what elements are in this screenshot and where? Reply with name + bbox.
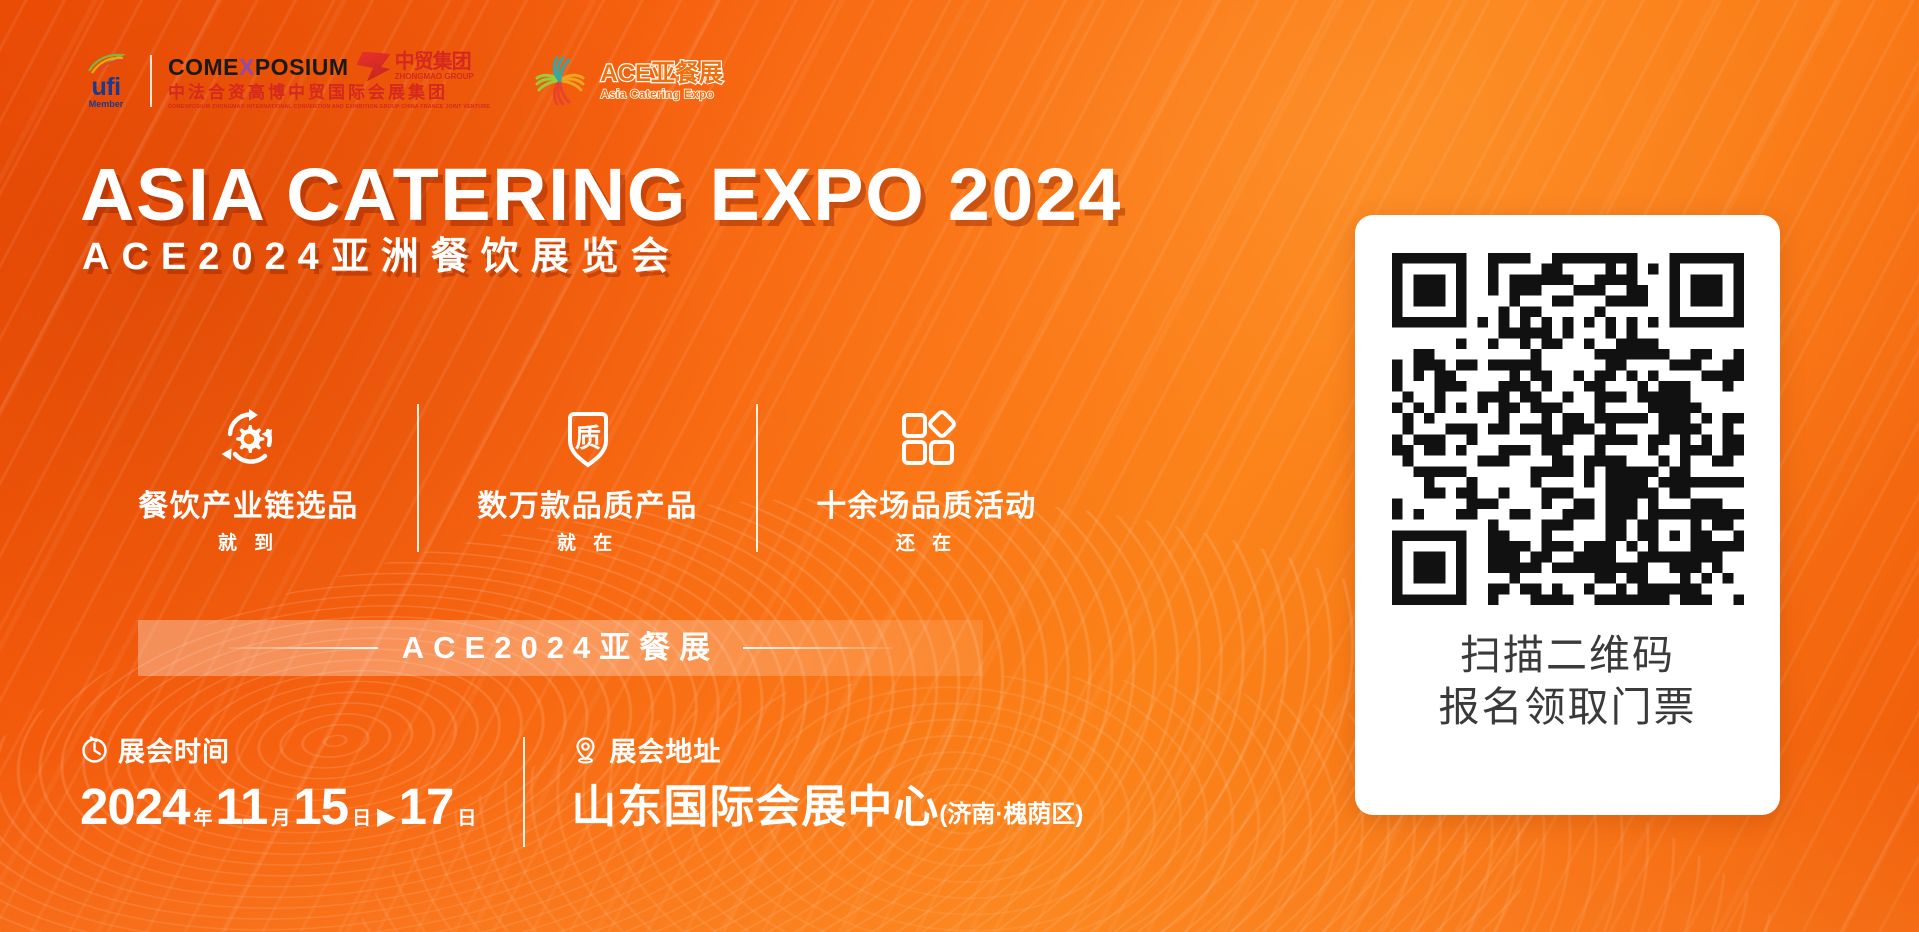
info-divider bbox=[523, 737, 525, 847]
qr-caption-line1: 扫描二维码 bbox=[1439, 629, 1697, 681]
clock-icon bbox=[80, 735, 109, 769]
ace-chinese-name: ACE亚餐展 bbox=[600, 61, 723, 87]
feature-subtitle: 还 在 bbox=[896, 532, 957, 556]
ufi-wordmark: ufi bbox=[91, 75, 120, 99]
feature-list: 餐饮产业链选品 就 到 质 数万款品质产品 就 在 bbox=[80, 400, 1095, 556]
joint-venture-english: COMEXPOSIUM ZHONGMAO INTERNATIONAL CONVE… bbox=[168, 103, 490, 111]
gear-cycle-icon bbox=[213, 400, 285, 472]
quality-shield-icon: 质 bbox=[552, 400, 624, 472]
comexposium-wordmark: COMEXPOSIUM bbox=[168, 54, 349, 80]
feature-item-activities: 十余场品质活动 还 在 bbox=[758, 400, 1095, 556]
activities-grid-icon bbox=[891, 400, 963, 472]
feature-subtitle: 就 到 bbox=[218, 532, 279, 556]
joint-venture-chinese: 中法合资高博中贸国际会展集团 bbox=[168, 83, 503, 103]
qr-caption-line2: 报名领取门票 bbox=[1439, 681, 1697, 733]
feature-title: 餐饮产业链选品 bbox=[138, 488, 359, 526]
logo-divider bbox=[150, 55, 152, 107]
ribbon-line-right bbox=[743, 647, 893, 649]
event-year-unit: 年 bbox=[193, 807, 212, 831]
ribbon-line-left bbox=[228, 647, 378, 649]
ufi-member-label: Member bbox=[89, 99, 124, 110]
event-venue-value: 山东国际会展中心 (济南·槐荫区) bbox=[571, 778, 1083, 836]
feature-item-quality-products: 质 数万款品质产品 就 在 bbox=[419, 400, 756, 556]
zhongmao-chinese-name: 中贸集团 bbox=[395, 52, 474, 72]
event-time-value: 2024 年 11 月 15 日 ▶ 17 日 bbox=[80, 778, 479, 836]
qr-code-image[interactable] bbox=[1392, 253, 1744, 605]
ace-expo-logo: ACE亚餐展 Asia Catering Expo bbox=[529, 50, 723, 112]
qr-registration-card[interactable]: 扫描二维码 报名领取门票 bbox=[1355, 215, 1780, 815]
event-venue-block: 展会地址 山东国际会展中心 (济南·槐荫区) bbox=[571, 735, 1083, 836]
page-title: ASIA CATERING EXPO 2024 bbox=[80, 155, 1122, 235]
zhongmao-logo: 中贸集团 ZHONGMAO GROUP bbox=[357, 52, 474, 82]
feature-title: 十余场品质活动 bbox=[816, 488, 1037, 526]
event-day-end-unit: 日 bbox=[457, 807, 476, 831]
venue-district: (济南·槐荫区) bbox=[939, 800, 1083, 830]
event-time-label: 展会时间 bbox=[118, 736, 230, 768]
event-time-block: 展会时间 2024 年 11 月 15 日 ▶ 17 日 bbox=[80, 735, 479, 836]
ace-pinwheel-icon bbox=[529, 50, 591, 112]
date-range-arrow-icon: ▶ bbox=[377, 805, 395, 829]
event-day-start-unit: 日 bbox=[352, 807, 371, 831]
page-subtitle: ACE2024亚洲餐饮展览会 bbox=[82, 232, 681, 282]
event-month-unit: 月 bbox=[271, 807, 290, 831]
venue-name: 山东国际会展中心 bbox=[571, 778, 939, 836]
svg-text:质: 质 bbox=[574, 423, 600, 453]
event-day-end: 17 bbox=[399, 778, 454, 836]
feature-item-supply-chain: 餐饮产业链选品 就 到 bbox=[80, 400, 417, 556]
comexposium-suffix: POSIUM bbox=[255, 54, 349, 80]
ribbon-text: ACE2024亚餐展 bbox=[402, 628, 719, 668]
event-venue-label: 展会地址 bbox=[609, 736, 721, 768]
ribbon-banner: ACE2024亚餐展 bbox=[138, 620, 983, 676]
event-year: 2024 bbox=[80, 778, 189, 836]
ace-english-name: Asia Catering Expo bbox=[600, 87, 723, 101]
comexposium-zhongmao-logo: COMEXPOSIUM 中贸集团 ZHONGMAO GROUP 中法合资高博中贸… bbox=[168, 52, 503, 111]
comexposium-x-letter: X bbox=[239, 54, 255, 80]
promotional-banner: ufi Member COMEXPOSIUM 中贸集团 ZHONGMAO GRO… bbox=[0, 0, 1919, 932]
ufi-member-logo: ufi Member bbox=[78, 53, 134, 110]
zhongmao-english-name: ZHONGMAO GROUP bbox=[395, 72, 474, 82]
feature-subtitle: 就 在 bbox=[557, 532, 618, 556]
zhongmao-emblem-icon bbox=[357, 52, 391, 82]
ufi-wing-icon bbox=[86, 53, 126, 75]
event-day-start: 15 bbox=[293, 778, 348, 836]
comexposium-prefix: COME bbox=[168, 54, 239, 80]
event-info: 展会时间 2024 年 11 月 15 日 ▶ 17 日 bbox=[80, 735, 1083, 847]
location-pin-icon bbox=[571, 735, 600, 769]
feature-title: 数万款品质产品 bbox=[477, 488, 698, 526]
event-month: 11 bbox=[215, 778, 267, 836]
logo-bar: ufi Member COMEXPOSIUM 中贸集团 ZHONGMAO GRO… bbox=[78, 46, 723, 116]
